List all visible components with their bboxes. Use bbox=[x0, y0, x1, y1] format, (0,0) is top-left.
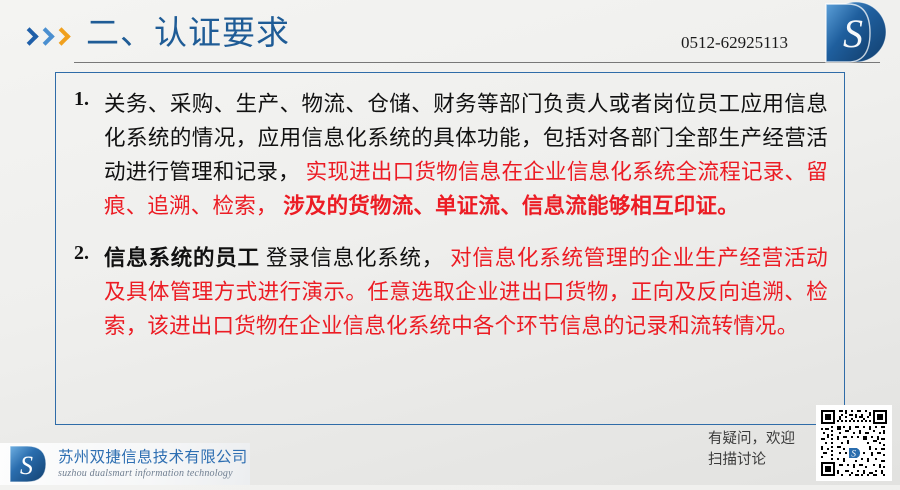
cta-line-2: 扫描讨论 bbox=[708, 450, 795, 471]
svg-text:S: S bbox=[20, 451, 33, 480]
header-divider bbox=[74, 62, 880, 63]
chevron-group bbox=[22, 27, 70, 49]
list-item: 1. 关务、采购、生产、物流、仓储、财务等部门负责人或者岗位员工应用信息化系统的… bbox=[66, 87, 828, 223]
scan-invitation-text: 有疑问，欢迎 扫描讨论 bbox=[708, 429, 795, 471]
list-item-marker: 1. bbox=[66, 87, 104, 111]
slide-canvas: 二、认证要求 0512-62925113 S bbox=[0, 0, 900, 485]
list-item-marker: 2. bbox=[66, 241, 104, 265]
text-run-red-bold: 涉及的货物流、单证流、信息流能够相互印证。 bbox=[283, 194, 739, 218]
text-run-black-bold: 信息系统的员工 bbox=[104, 246, 260, 270]
ds-logo-watermark-icon: S bbox=[796, 2, 892, 68]
contact-phone-number: 0512-62925113 bbox=[681, 33, 788, 53]
page-title: 二、认证要求 bbox=[86, 6, 290, 54]
company-logo-plate: S 苏州双捷信息技术有限公司 suzhou dualsmart informat… bbox=[0, 443, 250, 485]
chevron-right-icon bbox=[22, 27, 38, 49]
list-item: 2. 信息系统的员工 登录信息化系统， 对信息化系统管理的企业生产经营活动及具体… bbox=[66, 241, 828, 343]
company-name-cn: 苏州双捷信息技术有限公司 bbox=[58, 449, 250, 467]
slide-header: 二、认证要求 0512-62925113 S bbox=[0, 0, 900, 66]
qr-code-icon: S bbox=[816, 405, 892, 481]
ds-logo-icon: S bbox=[0, 443, 56, 485]
chevron-right-icon bbox=[38, 27, 54, 49]
company-name-block: 苏州双捷信息技术有限公司 suzhou dualsmart informatio… bbox=[56, 449, 250, 480]
text-run-black: 登录信息化系统， bbox=[266, 246, 444, 270]
cta-line-1: 有疑问，欢迎 bbox=[708, 429, 795, 450]
list-item-text: 关务、采购、生产、物流、仓储、财务等部门负责人或者岗位员工应用信息化系统的情况，… bbox=[104, 87, 828, 223]
svg-text:S: S bbox=[843, 11, 863, 56]
list-item-text: 信息系统的员工 登录信息化系统， 对信息化系统管理的企业生产经营活动及具体管理方… bbox=[104, 241, 828, 343]
requirements-content-box: 1. 关务、采购、生产、物流、仓储、财务等部门负责人或者岗位员工应用信息化系统的… bbox=[55, 72, 845, 425]
company-name-en: suzhou dualsmart information technology bbox=[58, 467, 250, 480]
svg-text:S: S bbox=[851, 449, 856, 459]
chevron-right-icon bbox=[54, 27, 70, 49]
